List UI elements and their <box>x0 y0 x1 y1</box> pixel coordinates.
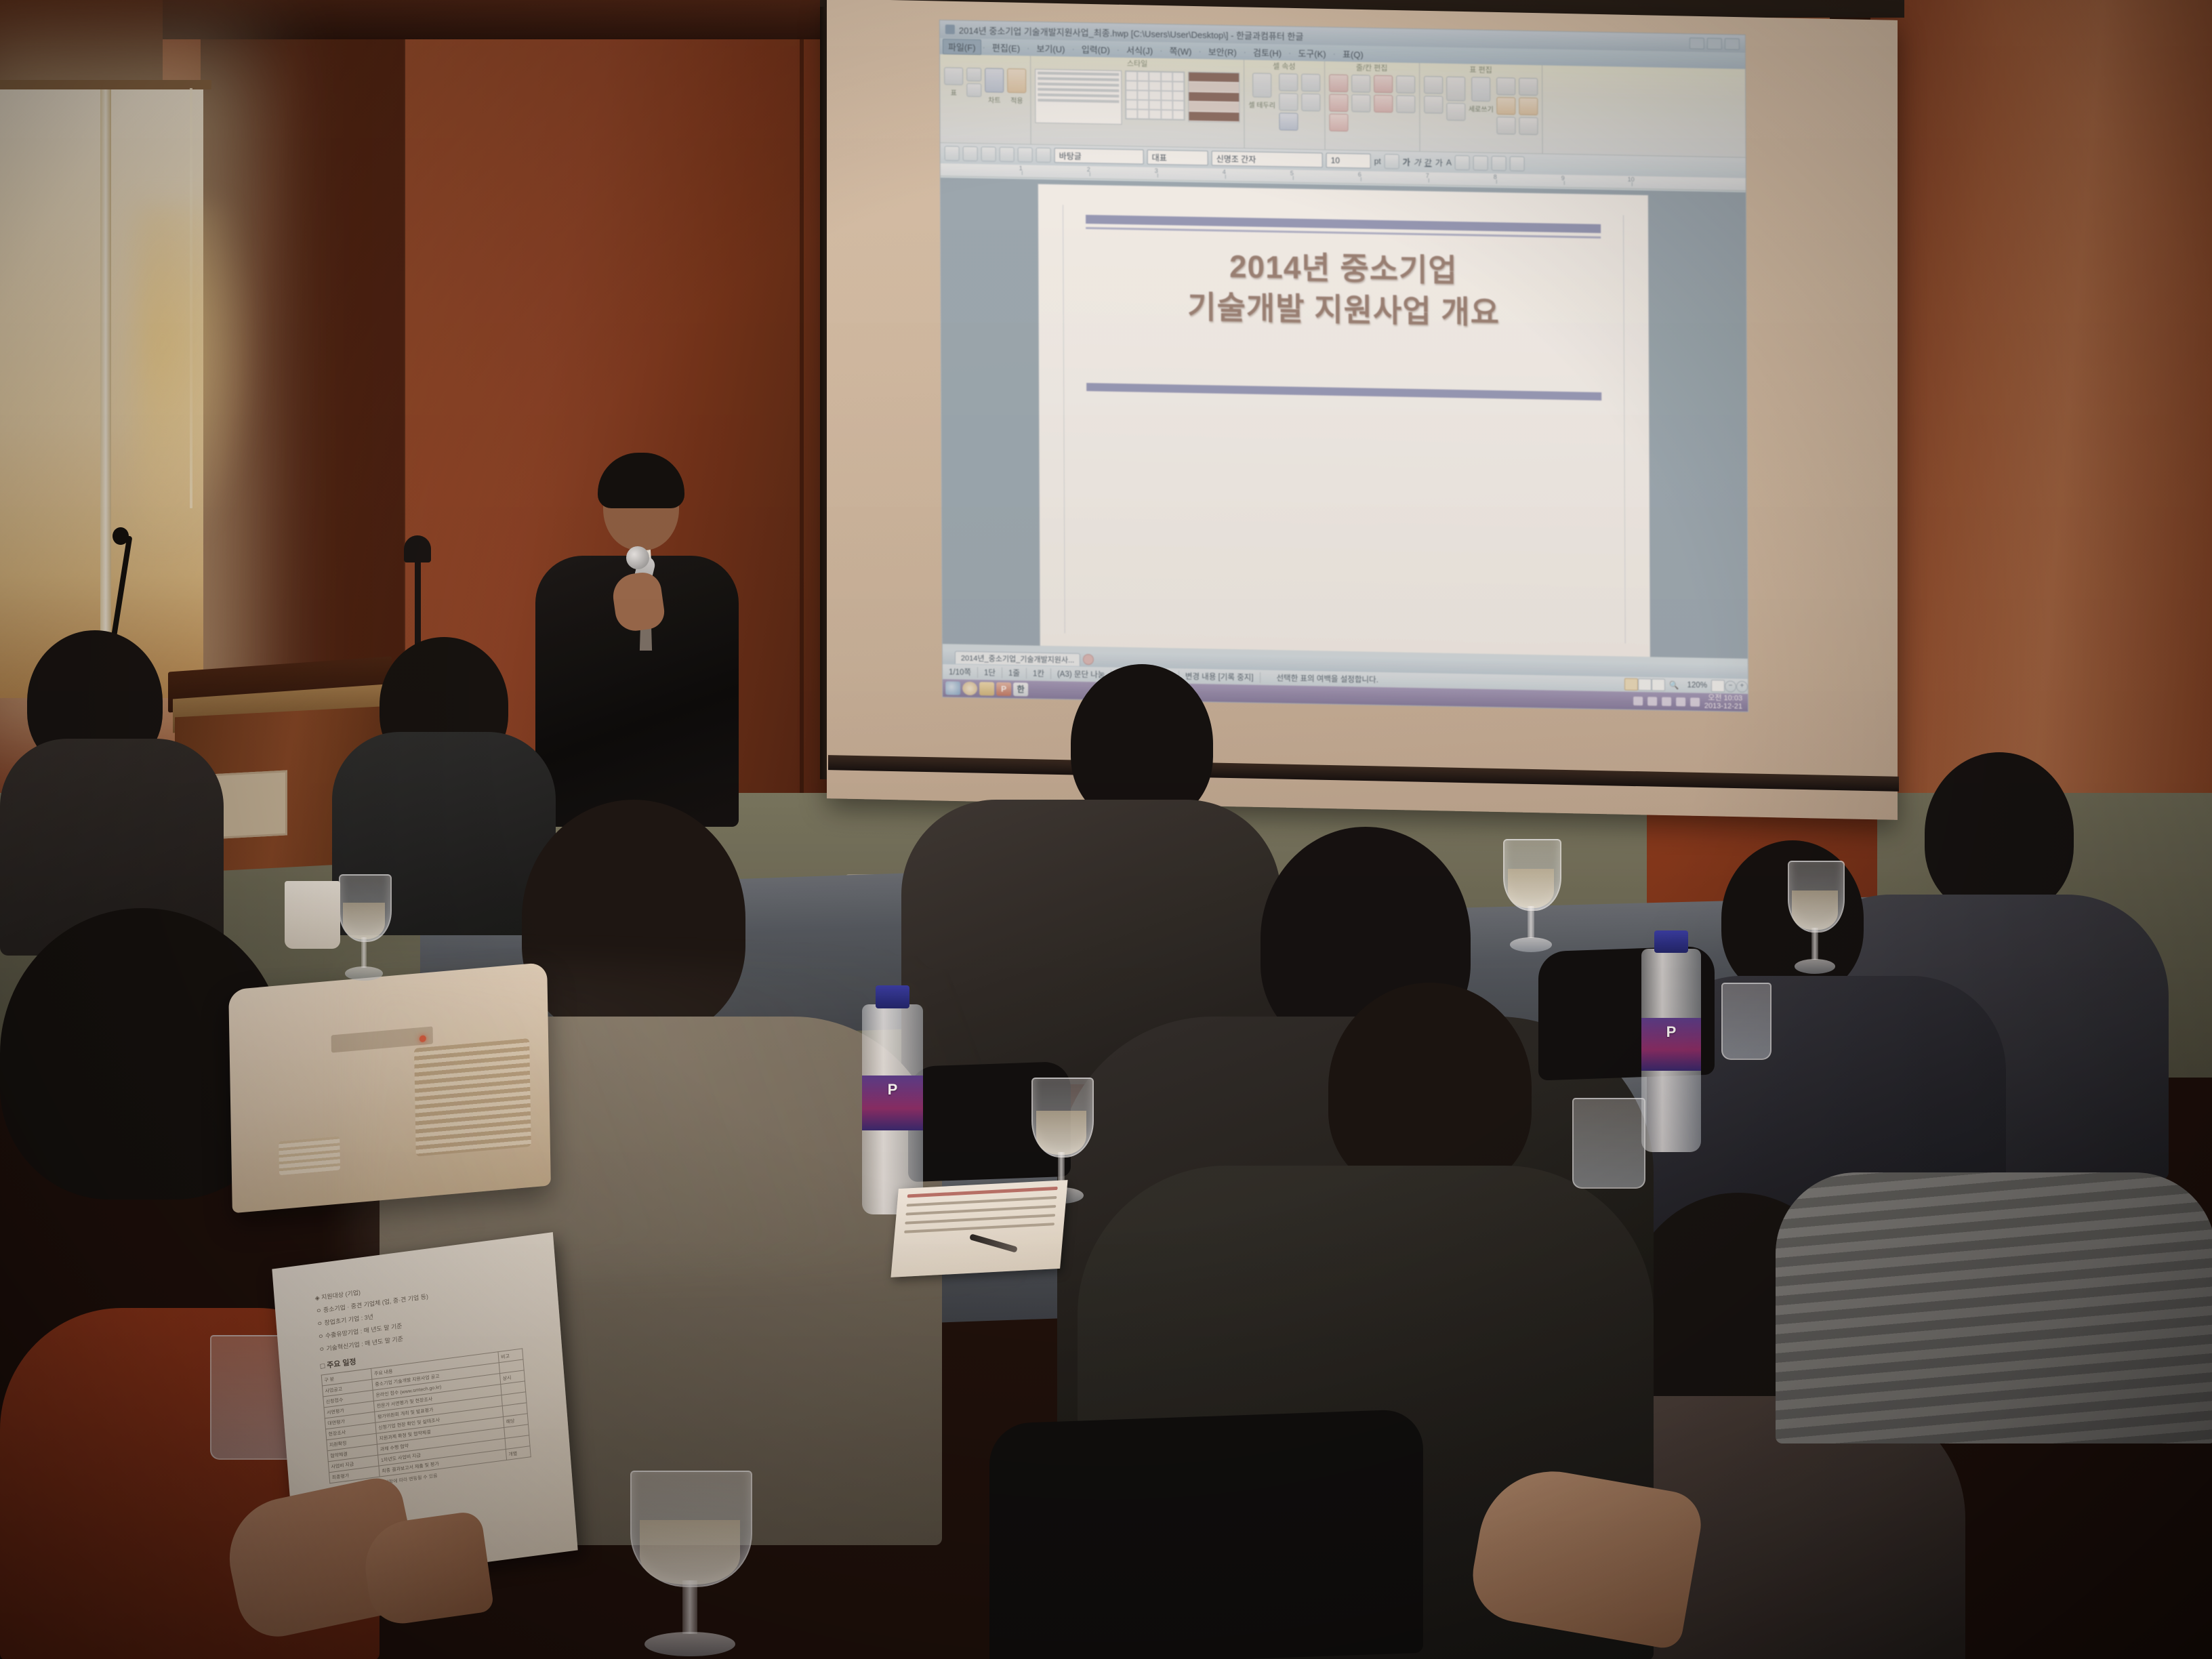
water-goblet <box>630 1471 750 1659</box>
water-goblet <box>1788 861 1842 976</box>
menu-sep: · <box>1027 43 1029 53</box>
insert-column-right-icon <box>1351 75 1370 93</box>
notes-line <box>904 1223 1054 1233</box>
menu-sep: · <box>1244 47 1246 57</box>
table-icon <box>944 67 963 85</box>
delete-column-icon <box>1374 75 1393 94</box>
underline-button[interactable]: 갇 <box>1425 157 1432 168</box>
water-bottle: P <box>1641 949 1701 1152</box>
bottle-label: P <box>1641 1018 1701 1071</box>
water-goblet <box>1503 839 1559 954</box>
handheld-microphone-head <box>626 546 649 569</box>
window-frame <box>0 80 211 89</box>
text-color-button[interactable]: A <box>1446 158 1452 167</box>
ribbon-button-border-pen[interactable] <box>1279 73 1298 131</box>
view-page-outline-button[interactable] <box>1652 678 1665 691</box>
preview-icon[interactable] <box>1018 147 1033 162</box>
apply-icon <box>1007 68 1026 94</box>
projected-desktop: 2014년 중소기업 기술개발지원사업_최종.hwp [C:\Users\Use… <box>939 20 1748 712</box>
status-page: 1/10쪽 <box>943 666 978 678</box>
align-left-icon[interactable] <box>1473 155 1488 170</box>
ribbon-button-cell-group[interactable] <box>1396 75 1415 113</box>
cell-fill-icon <box>1279 112 1298 131</box>
cell-border-icon <box>1252 73 1271 98</box>
clock-time: 오전 10:03 <box>1704 694 1742 703</box>
menu-item-file[interactable]: 파일(F) <box>943 39 981 55</box>
projector-body <box>228 962 551 1214</box>
table-sort-icon <box>1519 78 1538 96</box>
chart-alt-icon <box>966 83 981 97</box>
water-bottle: P <box>862 1004 923 1214</box>
ribbon-button-merge[interactable] <box>1446 77 1465 121</box>
maximize-button[interactable] <box>1707 37 1722 49</box>
notes-line <box>905 1214 1055 1225</box>
table-caption-icon <box>1497 117 1516 135</box>
print-icon[interactable] <box>1000 147 1015 162</box>
podium-microphone-head <box>112 527 129 545</box>
split-cells-icon <box>1424 76 1443 94</box>
font-family-select[interactable]: 신명조 간자 <box>1212 150 1323 167</box>
ribbon-button-split[interactable] <box>1424 76 1443 114</box>
merge-cells-alt-icon <box>1446 103 1465 121</box>
title-rule-bottom <box>1086 383 1601 401</box>
screenshot-root: 2014년 중소기업 기술개발지원사업_최종.hwp [C:\Users\Use… <box>0 0 2212 1659</box>
ribbon-label: 적용 <box>1010 95 1023 105</box>
border-line-icon <box>1301 94 1320 112</box>
bottle-label: P <box>862 1076 923 1130</box>
document-title-line2: 기술개발 지원사업 개요 <box>1080 285 1608 335</box>
file-explorer-icon[interactable] <box>979 682 994 695</box>
notes-line <box>905 1205 1056 1216</box>
media-ring-icon[interactable] <box>962 682 977 695</box>
line-spacing-icon[interactable] <box>1385 154 1399 169</box>
view-facing-pages-button[interactable] <box>1638 678 1652 691</box>
volume-icon[interactable] <box>1690 697 1700 706</box>
ribbon-button-insert-cols[interactable] <box>1351 75 1370 112</box>
network-icon[interactable] <box>1676 697 1685 705</box>
water-goblet <box>339 874 389 983</box>
status-column: 1단 <box>978 667 1002 678</box>
microphone-stand-head <box>404 535 431 562</box>
ribbon-button-insert-rows[interactable] <box>1329 75 1348 132</box>
magnifier-icon[interactable]: 🔍 <box>1665 680 1683 690</box>
font-size-unit: pt <box>1374 157 1381 166</box>
ribbon-button-border-width[interactable] <box>1301 74 1320 112</box>
window-mullion <box>100 88 111 671</box>
menu-item-format[interactable]: 서식(J) <box>1121 42 1158 57</box>
projector-control-panel <box>279 1136 340 1175</box>
projector-vent <box>414 1038 531 1157</box>
status-track-changes[interactable]: 변경 내용 [기록 중지] <box>1179 671 1261 683</box>
close-button[interactable] <box>1725 38 1740 49</box>
system-tray[interactable]: 오전 10:03 2013-12-21 <box>1633 693 1748 711</box>
flag-icon[interactable] <box>1647 697 1657 705</box>
vertical-text-icon <box>1471 77 1490 102</box>
chair-back <box>989 1409 1423 1659</box>
menu-sep: · <box>1160 45 1162 56</box>
ribbon-button-apply[interactable]: 적용 <box>1007 68 1026 106</box>
ribbon-label: 세로쓰기 <box>1469 103 1494 114</box>
table-theme-icon[interactable] <box>1188 72 1240 123</box>
bottle-cap <box>876 985 909 1008</box>
chart-column-icon <box>985 68 1004 93</box>
menu-sep: · <box>1333 48 1336 58</box>
internet-explorer-icon[interactable] <box>945 681 960 695</box>
notes-highlight-line <box>907 1187 1058 1198</box>
ribbon-group-cell-properties: 셀 속성 셀 테두리 <box>1244 60 1325 149</box>
security-icon[interactable] <box>1662 697 1671 705</box>
projection-screen: 2014년 중소기업 기술개발지원사업_최종.hwp [C:\Users\Use… <box>820 0 1904 834</box>
paper-cup <box>285 881 340 949</box>
ribbon-button-chart[interactable] <box>966 68 981 97</box>
menu-sep: · <box>982 42 985 52</box>
menu-item-edit[interactable]: 편집(E) <box>987 40 1025 55</box>
show-hidden-icon[interactable] <box>1633 696 1643 705</box>
notes-sheet[interactable] <box>890 1180 1067 1277</box>
insert-row-above-icon <box>1329 75 1348 93</box>
water-tumbler <box>1721 983 1771 1060</box>
zoom-in-button[interactable]: + <box>1736 680 1748 692</box>
menu-item-tools[interactable]: 도구(K) <box>1292 45 1331 60</box>
table-autofit-icon <box>1519 117 1538 136</box>
insert-column-left-icon <box>1329 94 1348 112</box>
app-icon <box>945 24 955 34</box>
bottle-cap <box>1654 930 1687 953</box>
notes-line <box>906 1196 1057 1207</box>
ribbon-button-delete-col[interactable] <box>1374 75 1393 113</box>
insert-row-below-icon <box>1351 94 1370 112</box>
ribbon-label: 셀 테두리 <box>1248 99 1275 110</box>
menu-sep: · <box>1117 44 1120 54</box>
menu-sep: · <box>1198 46 1201 56</box>
menu-item-security[interactable]: 보안(R) <box>1203 44 1242 59</box>
document-canvas[interactable]: 2014년 중소기업 기술개발 지원사업 개요 <box>941 178 1748 659</box>
align-right-icon[interactable] <box>1510 156 1525 171</box>
ribbon-label: 차트 <box>988 94 1000 104</box>
zoom-level[interactable]: 120% <box>1683 681 1711 690</box>
menu-item-page[interactable]: 쪽(W) <box>1164 43 1197 58</box>
window-glow <box>136 203 258 556</box>
menu-item-review[interactable]: 검토(H) <box>1248 45 1287 60</box>
bold-button[interactable]: 가 <box>1403 156 1410 167</box>
powerpoint-icon[interactable]: P <box>996 682 1011 696</box>
cell-ungroup-icon <box>1396 95 1415 113</box>
menu-item-table[interactable]: 표(Q) <box>1337 46 1369 61</box>
ribbon-button-cell-margin[interactable] <box>1497 77 1516 135</box>
page-guide-left <box>1063 205 1065 633</box>
open-file-icon[interactable] <box>963 146 978 161</box>
menu-item-insert[interactable]: 입력(D) <box>1076 41 1115 56</box>
view-single-page-button[interactable] <box>1624 678 1638 691</box>
ribbon-label: 표 <box>951 87 957 97</box>
font-label-select[interactable]: 대표 <box>1147 150 1208 166</box>
zoom-dropdown-icon[interactable] <box>1711 680 1725 692</box>
status-line: 1줄 <box>1002 668 1027 679</box>
status-char: 1칸 <box>1027 668 1051 679</box>
cell-margin-icon <box>1497 77 1516 96</box>
table-grid-icon[interactable] <box>1125 70 1185 121</box>
wall-seam <box>800 0 804 834</box>
border-style-icon <box>1279 93 1298 111</box>
table-properties-icon <box>1497 97 1516 115</box>
save-icon[interactable] <box>981 146 996 161</box>
split-table-icon <box>1424 96 1443 114</box>
minimize-button[interactable] <box>1689 37 1704 49</box>
document-title: 2014년 중소기업 기술개발 지원사업 개요 <box>1079 243 1608 335</box>
new-document-icon[interactable] <box>945 146 960 161</box>
chart-icon <box>966 68 981 81</box>
paragraph-style-select[interactable]: 바탕글 <box>1054 148 1144 164</box>
merge-table-icon <box>1446 77 1465 102</box>
ribbon-group-row-col-edit: 줄/칸 편집 <box>1325 61 1420 151</box>
delete-row-icon <box>1329 114 1348 132</box>
ribbon-group-style: 스타일 <box>1031 56 1245 148</box>
water-tumbler <box>1572 1098 1645 1189</box>
border-width-icon <box>1301 74 1320 92</box>
table-formula-icon <box>1519 98 1538 116</box>
zoom-out-button[interactable]: − <box>1725 680 1736 692</box>
font-size-select[interactable]: 10 <box>1326 153 1371 169</box>
table-cell: 개별 <box>506 1446 531 1460</box>
align-center-icon[interactable] <box>1492 156 1507 171</box>
document-tab[interactable]: 2014년_중소기업_기술개발지원사... <box>955 651 1080 665</box>
ribbon-toolbar[interactable]: 표 차트 적용 <box>940 54 1746 158</box>
italic-button[interactable]: 가 <box>1414 156 1421 167</box>
ribbon-button-table[interactable]: 표 <box>944 67 963 98</box>
taskbar-clock[interactable]: 오전 10:03 2013-12-21 <box>1704 694 1742 711</box>
cell-group-icon <box>1396 75 1415 94</box>
border-pen-icon <box>1279 73 1298 91</box>
merge-cells-icon <box>1374 95 1393 113</box>
cut-icon[interactable] <box>1036 148 1051 163</box>
ribbon-button-chart-group[interactable]: 차트 <box>985 68 1004 105</box>
menu-sep: · <box>1288 47 1291 58</box>
ribbon-group-insert: 표 차트 적용 <box>940 54 1031 144</box>
menu-item-view[interactable]: 보기(U) <box>1031 41 1070 56</box>
ribbon-button-cell-border[interactable]: 셀 테두리 <box>1248 73 1275 110</box>
highlight-color-button[interactable] <box>1455 155 1470 170</box>
strikethrough-button[interactable]: 가 <box>1435 157 1443 168</box>
clock-date: 2013-12-21 <box>1704 702 1742 711</box>
ribbon-button-table-extra[interactable] <box>1519 78 1538 136</box>
close-tab-icon[interactable] <box>1083 654 1094 665</box>
menu-sep: · <box>1071 43 1074 54</box>
page-guide-right <box>1623 216 1626 644</box>
hangul-word-processor-icon[interactable]: 한 <box>1013 682 1028 696</box>
ribbon-button-vertical-text[interactable]: 세로쓰기 <box>1469 77 1494 114</box>
ribbon-group-table-edit: 표 편집 세로쓰기 <box>1420 63 1543 153</box>
style-gallery-icon[interactable] <box>1035 69 1122 125</box>
document-page[interactable]: 2014년 중소기업 기술개발 지원사업 개요 <box>1038 184 1651 659</box>
